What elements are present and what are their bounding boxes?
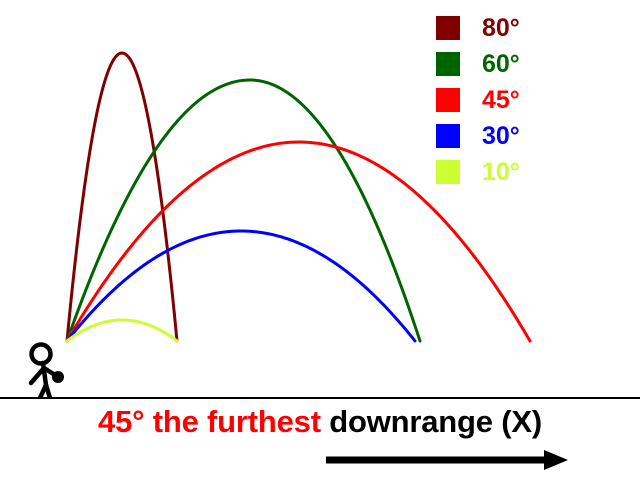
legend-swatch-45-icon bbox=[436, 88, 460, 112]
projectile-diagram: 80° 60° 45° 30° 10° 45° the furthest dow… bbox=[0, 0, 640, 480]
legend-item-45[interactable]: 45° bbox=[436, 82, 556, 118]
legend-swatch-10-icon bbox=[436, 160, 460, 184]
stick-figure-thrower bbox=[31, 345, 64, 399]
thrower-head-icon bbox=[32, 345, 51, 364]
legend-item-60[interactable]: 60° bbox=[436, 46, 556, 82]
ground-line bbox=[0, 397, 640, 399]
trajectory-curve-60 bbox=[67, 80, 420, 341]
arrow-head-icon bbox=[544, 450, 568, 470]
downrange-direction-arrow bbox=[320, 446, 572, 474]
trajectory-curve-30 bbox=[67, 231, 415, 341]
legend-label-45: 45° bbox=[482, 88, 520, 113]
thrower-left-arm bbox=[31, 368, 44, 383]
legend-swatch-80-icon bbox=[436, 16, 460, 40]
angle-legend: 80° 60° 45° 30° 10° bbox=[436, 10, 556, 190]
caption-highlight: 45° the furthest bbox=[98, 404, 329, 439]
legend-item-80[interactable]: 80° bbox=[436, 10, 556, 46]
caption: 45° the furthest downrange (X) bbox=[0, 404, 640, 440]
legend-label-10: 10° bbox=[482, 160, 520, 185]
trajectory-plot-area: 80° 60° 45° 30° 10° bbox=[0, 0, 640, 398]
legend-label-30: 30° bbox=[482, 124, 520, 149]
legend-label-80: 80° bbox=[482, 16, 520, 41]
legend-label-60: 60° bbox=[482, 52, 520, 77]
caption-plain: downrange (X) bbox=[329, 404, 542, 439]
legend-swatch-30-icon bbox=[436, 124, 460, 148]
projectile-ball-icon bbox=[52, 371, 64, 383]
legend-swatch-60-icon bbox=[436, 52, 460, 76]
legend-item-10[interactable]: 10° bbox=[436, 154, 556, 190]
legend-item-30[interactable]: 30° bbox=[436, 118, 556, 154]
